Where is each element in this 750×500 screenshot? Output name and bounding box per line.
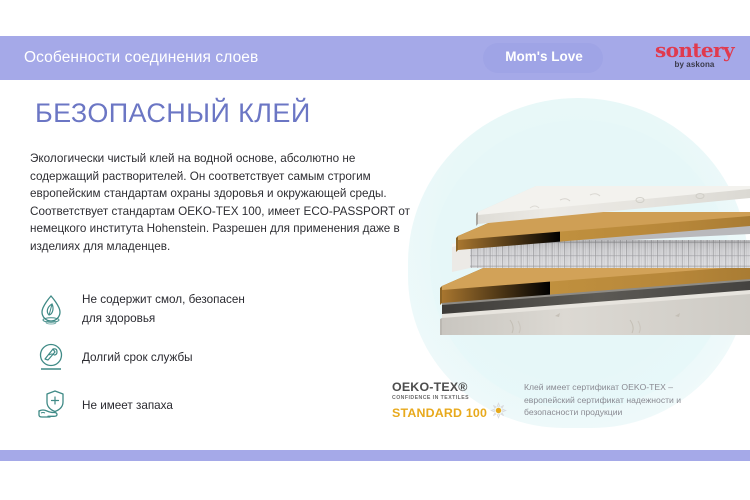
header-band: Особенности соединения слоев Mom's Love …: [0, 36, 750, 80]
feature-label: Не содержит смол, безопасен для здоровья: [82, 290, 245, 328]
brand-name: Mom's Love: [489, 49, 599, 64]
feature-label-line2: для здоровья: [82, 309, 245, 328]
feature-list: Не содержит смол, безопасен для здоровья…: [36, 285, 376, 429]
logo-wordmark: sontery: [655, 40, 734, 60]
certification-description: Клей имеет сертификат OEKO-TEX – европей…: [514, 376, 722, 419]
feature-label: Долгий срок службы: [82, 348, 193, 367]
certification-block: OEKO-TEX® CONFIDENCE IN TEXTILES STANDAR…: [392, 376, 722, 428]
bottom-accent-bar: [0, 450, 750, 461]
oeko-tex-title: OEKO-TEX®: [392, 380, 514, 394]
feature-item-long-life: Долгий срок службы: [36, 333, 376, 381]
water-drop-leaf-icon: [36, 293, 82, 325]
header-title: Особенности соединения слоев: [24, 49, 258, 67]
feature-label-line1: Не содержит смол, безопасен: [82, 290, 245, 309]
page-title: БЕЗОПАСНЫЙ КЛЕЙ: [35, 98, 311, 129]
oeko-tex-flower-icon: [490, 402, 507, 424]
oeko-tex-standard: STANDARD 100: [392, 406, 487, 421]
durability-circle-icon: [36, 341, 82, 373]
feature-label-line1: Не имеет запаха: [82, 396, 173, 415]
feature-item-no-resins: Не содержит смол, безопасен для здоровья: [36, 285, 376, 333]
mattress-layers-cutaway: [440, 178, 750, 348]
oeko-tex-badge: OEKO-TEX® CONFIDENCE IN TEXTILES STANDAR…: [392, 376, 514, 424]
feature-label-line1: Долгий срок службы: [82, 348, 193, 367]
sontery-logo: sontery by askona: [655, 40, 734, 70]
slide-root: Особенности соединения слоев Mom's Love …: [0, 0, 750, 500]
feature-label: Не имеет запаха: [82, 396, 173, 415]
oeko-tex-subtitle: CONFIDENCE IN TEXTILES: [392, 394, 514, 402]
feature-item-no-smell: Не имеет запаха: [36, 381, 376, 429]
hand-shield-cross-icon: [36, 389, 82, 421]
intro-paragraph: Экологически чистый клей на водной основ…: [30, 150, 420, 255]
